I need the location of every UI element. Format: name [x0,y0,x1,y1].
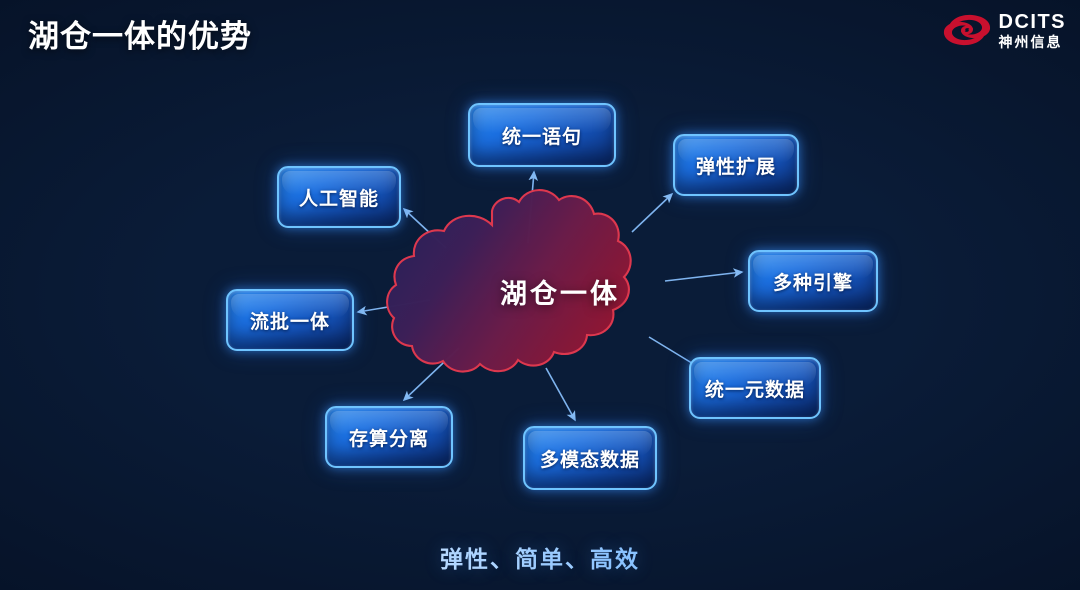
node-label: 统一语句 [502,122,582,149]
node-elastic-scaling[interactable]: 弹性扩展 [673,134,799,196]
node-storage-compute-separation[interactable]: 存算分离 [325,406,453,468]
diagram-canvas [0,0,1080,590]
node-label: 多模态数据 [540,445,640,472]
node-stream-batch-unified[interactable]: 流批一体 [226,289,354,351]
slide-caption: 弹性、简单、高效 [0,540,1080,574]
arrow-to-elastic-scaling [632,194,672,232]
node-label: 多种引擎 [773,268,853,295]
arrow-to-multimodal-data [546,368,575,420]
node-label: 流批一体 [250,307,330,334]
center-cloud-shape [387,190,631,371]
node-multimodal-data[interactable]: 多模态数据 [523,426,657,490]
node-multi-engine[interactable]: 多种引擎 [748,250,878,312]
slide-root: 湖仓一体的优势 DCITS 神州信息 湖仓 [0,0,1080,590]
node-label: 统一元数据 [705,375,805,402]
arrow-to-multi-engine [665,272,742,281]
node-ai[interactable]: 人工智能 [277,166,401,228]
node-unified-metadata[interactable]: 统一元数据 [689,357,821,419]
node-label: 人工智能 [299,184,379,211]
node-label: 存算分离 [349,424,429,451]
node-unified-statement[interactable]: 统一语句 [468,103,616,167]
node-label: 弹性扩展 [696,152,776,179]
